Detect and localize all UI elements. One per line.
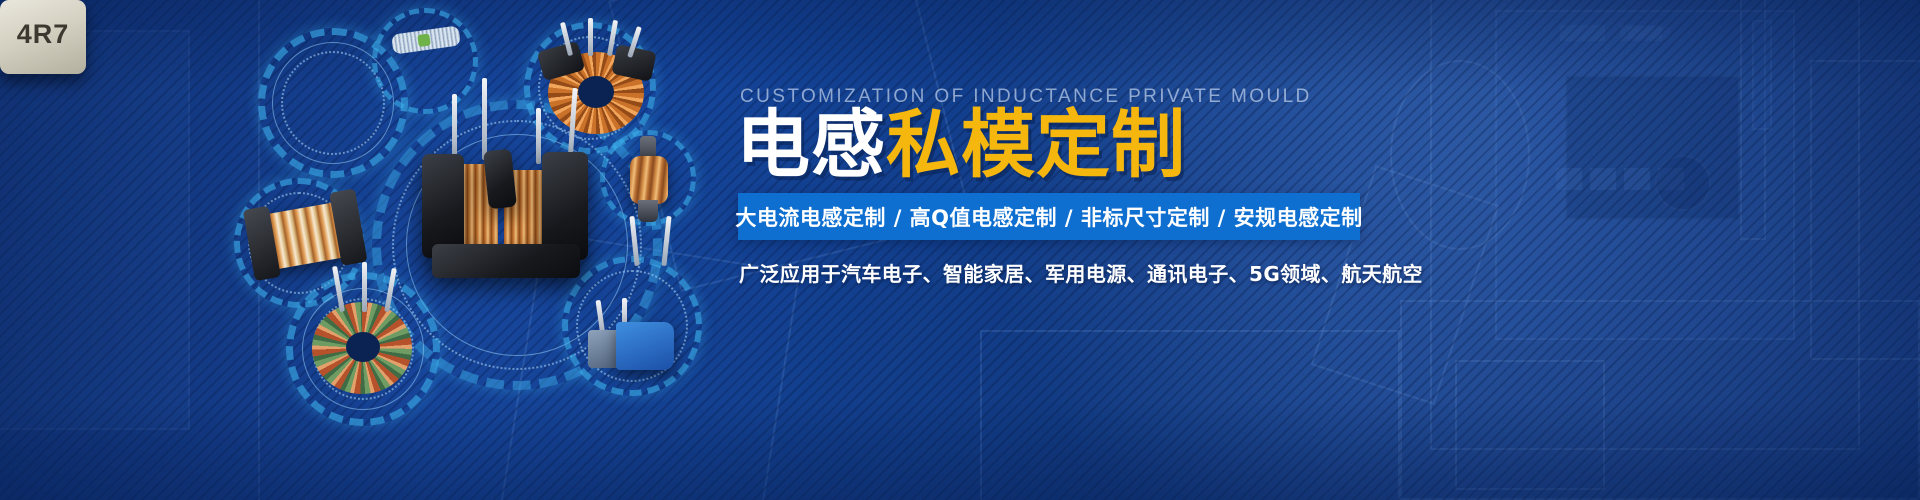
banner-content: CUSTOMIZATION OF INDUCTANCE PRIVATE MOUL…	[736, 0, 1920, 500]
product-smd-power-inductor: 4R7	[0, 0, 86, 74]
product-collage: 4R7	[0, 0, 740, 500]
headline-white-part: 电感	[736, 102, 886, 188]
application-description: 广泛应用于汽车电子、智能家居、军用电源、通讯电子、5G领域、航天航空	[739, 258, 1423, 287]
headline-gold-part: 私模定制	[886, 102, 1186, 188]
product-axial-lead-choke	[622, 142, 678, 262]
feature-bar-text: 大电流电感定制 / 高Q值电感定制 / 非标尺寸定制 / 安规电感定制	[735, 202, 1362, 232]
product-green-core-toroid	[312, 302, 412, 394]
smd-part-code: 4R7	[0, 0, 86, 74]
page-title: 电感私模定制	[736, 108, 1186, 182]
promo-banner: 4R7	[0, 0, 1920, 500]
hud-ring-icon	[372, 8, 478, 114]
hud-ring-dotted-icon	[281, 51, 385, 155]
product-common-mode-filter-choke	[408, 112, 588, 270]
product-blue-radial-inductor	[582, 304, 666, 390]
feature-bar[interactable]: 大电流电感定制 / 高Q值电感定制 / 非标尺寸定制 / 安规电感定制	[738, 193, 1360, 240]
